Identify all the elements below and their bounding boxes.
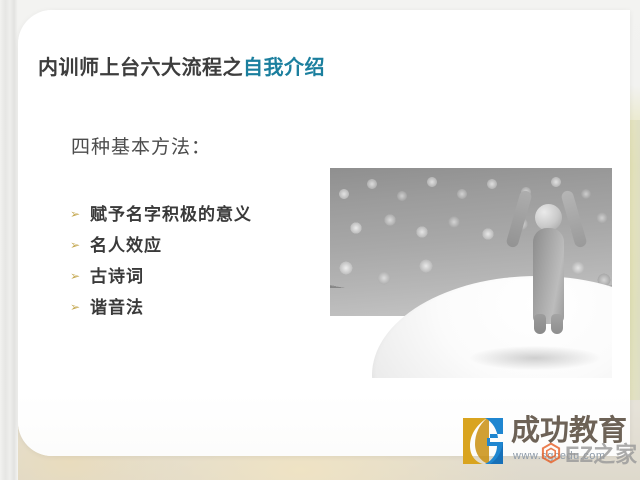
slide-title-plain: 内训师上台六大流程之 bbox=[38, 57, 243, 79]
backdrop-left-strip bbox=[0, 0, 18, 480]
company-logo-icon bbox=[457, 412, 509, 468]
arrow-bullet-icon: ➢ bbox=[70, 208, 90, 220]
image-speaker-body bbox=[533, 228, 564, 324]
slide-image-crowd-speaker bbox=[330, 168, 612, 378]
list-item: ➢ 古诗词 bbox=[70, 268, 340, 299]
arrow-bullet-icon: ➢ bbox=[70, 270, 90, 282]
slide-title-accent: 自我介绍 bbox=[243, 57, 325, 79]
bullet-list: ➢ 赋予名字积极的意义 ➢ 名人效应 ➢ 古诗词 ➢ 谐音法 bbox=[70, 206, 340, 330]
image-speaker-left-leg bbox=[534, 314, 546, 334]
ez-home-watermark: EZ之家 bbox=[540, 438, 640, 472]
arrow-bullet-icon: ➢ bbox=[70, 239, 90, 251]
presentation-slide: 内训师上台六大流程之自我介绍 四种基本方法： ➢ 赋予名字积极的意义 ➢ 名人效… bbox=[18, 10, 630, 456]
list-item-label: 名人效应 bbox=[90, 237, 162, 254]
list-item: ➢ 谐音法 bbox=[70, 299, 340, 330]
list-item-label: 赋予名字积极的意义 bbox=[90, 206, 252, 223]
list-item: ➢ 赋予名字积极的意义 bbox=[70, 206, 340, 237]
image-speaker-head bbox=[535, 204, 562, 231]
hexagon-cube-icon bbox=[540, 442, 562, 469]
arrow-bullet-icon: ➢ bbox=[70, 301, 90, 313]
slide-title: 内训师上台六大流程之自我介绍 bbox=[38, 58, 325, 78]
image-stage-shadow bbox=[470, 346, 600, 370]
list-item: ➢ 名人效应 bbox=[70, 237, 340, 268]
slide-intro-line: 四种基本方法： bbox=[71, 138, 211, 157]
watermark-label: EZ之家 bbox=[565, 444, 637, 466]
image-speaker-right-leg bbox=[551, 314, 563, 334]
list-item-label: 古诗词 bbox=[90, 268, 144, 285]
list-item-label: 谐音法 bbox=[90, 299, 144, 316]
